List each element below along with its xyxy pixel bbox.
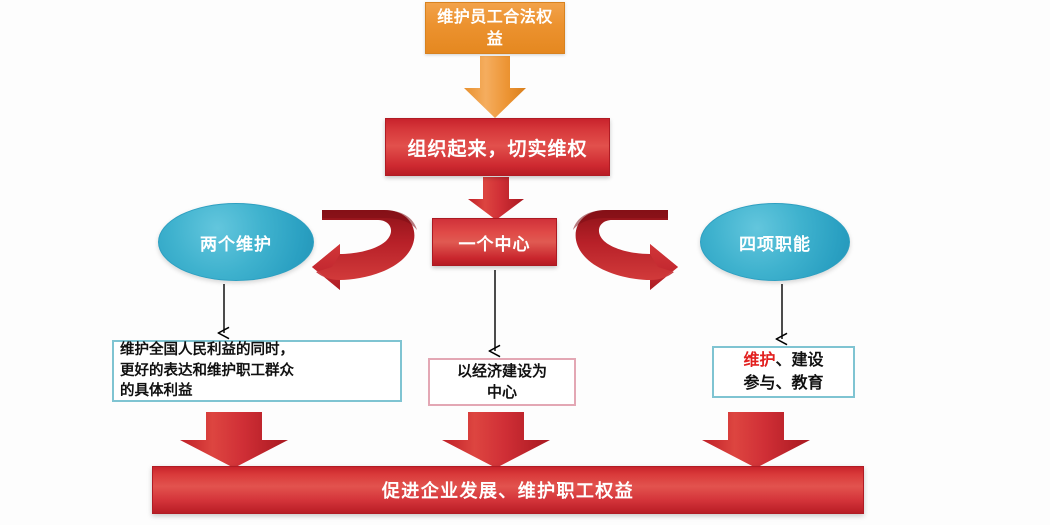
goal-node[interactable]: 维护员工合法权益 [425, 2, 565, 54]
branch-node-two-safeguards[interactable]: 两个维护 [158, 203, 314, 281]
result-node[interactable]: 促进企业发展、维护职工权益 [152, 466, 864, 514]
detail-center-line2: 中心 [457, 382, 547, 403]
orange-down-arrow-icon [464, 56, 526, 118]
branch-node-one-center[interactable]: 一个中心 [432, 218, 557, 266]
red-block-down-arrow-icon [442, 412, 550, 468]
detail-left-line2: 更好的表达和维护职工群众 [120, 361, 294, 382]
red-block-down-arrow-icon [180, 412, 288, 468]
red-block-down-arrow-icon [702, 412, 810, 468]
detail-right-line1-rest: 、建设 [776, 350, 824, 369]
detail-node-center[interactable]: 以经济建设为 中心 [428, 358, 576, 406]
detail-center-line1: 以经济建设为 [457, 361, 547, 382]
branch-node-four-functions[interactable]: 四项职能 [700, 203, 850, 281]
detail-node-right[interactable]: 维护、建设 参与、教育 [712, 346, 855, 398]
curved-left-arrow-icon [312, 210, 417, 290]
red-down-arrow-icon [468, 177, 524, 220]
detail-right-highlight: 维护 [743, 350, 775, 369]
detail-left-line3: 的具体利益 [120, 381, 294, 402]
detail-left-line1: 维护全国人民利益的同时， [120, 340, 294, 361]
detail-node-left[interactable]: 维护全国人民利益的同时， 更好的表达和维护职工群众 的具体利益 [112, 340, 402, 402]
organize-node[interactable]: 组织起来，切实维权 [385, 118, 610, 176]
detail-right-line2: 参与、教育 [743, 372, 823, 395]
curved-right-arrow-icon [573, 210, 678, 290]
flowchart-canvas: 维护员工合法权益 组织起来，切实维权 两个维护 一个中心 四项职能 维护全国人民… [0, 0, 1050, 525]
